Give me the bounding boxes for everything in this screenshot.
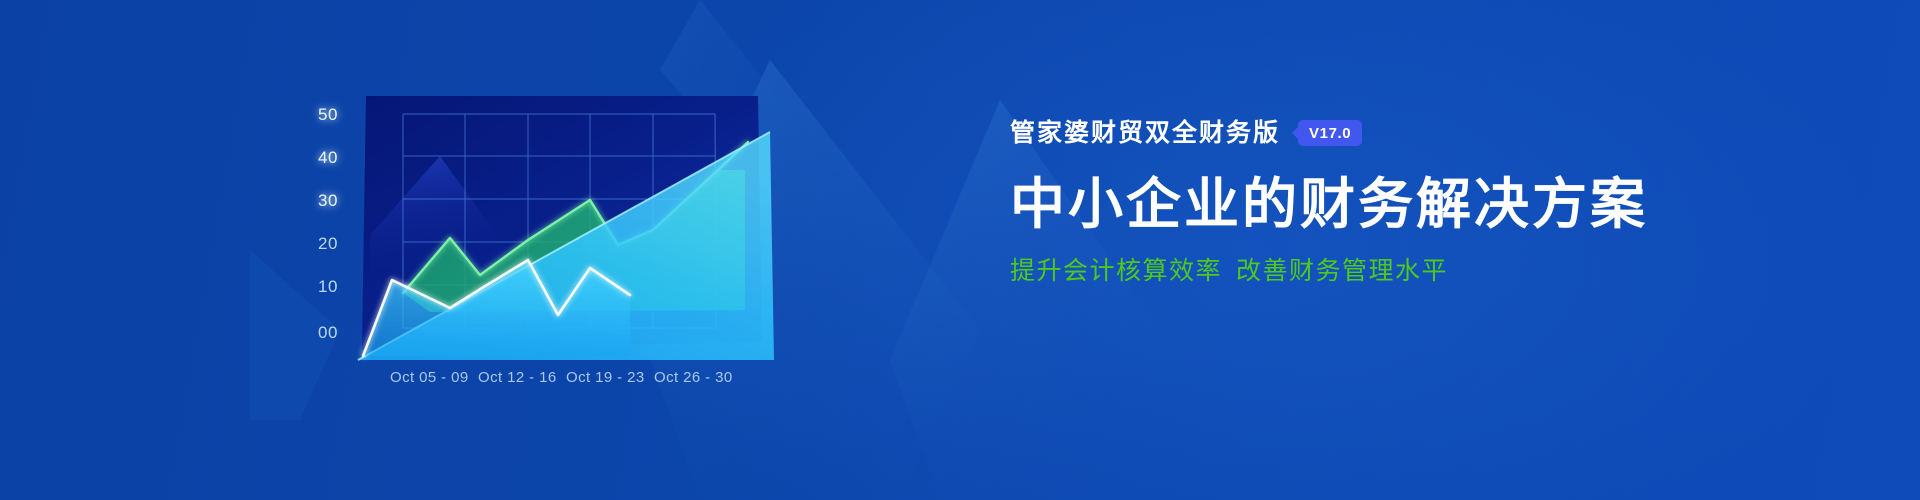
subheadline-part-2: 改善财务管理水平 bbox=[1236, 257, 1448, 285]
y-tick-label: 00 bbox=[318, 323, 338, 342]
x-tick-label: Oct 05 - 09 bbox=[390, 369, 469, 386]
growth-chart: 50 40 30 20 10 00 Oct 05 - 09 Oct 12 - 1… bbox=[300, 60, 940, 420]
growth-chart-svg: 50 40 30 20 10 00 Oct 05 - 09 Oct 12 - 1… bbox=[300, 60, 940, 420]
x-tick-label: Oct 19 - 23 bbox=[566, 369, 645, 386]
y-tick-label: 30 bbox=[318, 191, 338, 210]
promo-copy: 管家婆财贸双全财务版 V17.0 中小企业的财务解决方案 提升会计核算效率改善财… bbox=[1010, 120, 1770, 286]
y-tick-label: 10 bbox=[318, 277, 338, 296]
y-tick-label: 20 bbox=[318, 234, 338, 253]
subheadline: 提升会计核算效率改善财务管理水平 bbox=[1010, 256, 1770, 286]
headline: 中小企业的财务解决方案 bbox=[1010, 176, 1770, 234]
product-name-row: 管家婆财贸双全财务版 V17.0 bbox=[1010, 120, 1770, 146]
version-badge: V17.0 bbox=[1298, 120, 1362, 146]
subheadline-part-1: 提升会计核算效率 bbox=[1010, 257, 1222, 285]
y-tick-label: 50 bbox=[318, 105, 338, 124]
chart-y-axis: 50 40 30 20 10 00 bbox=[318, 105, 338, 342]
chart-x-axis: Oct 05 - 09 Oct 12 - 16 Oct 19 - 23 Oct … bbox=[390, 369, 733, 386]
promo-banner: 50 40 30 20 10 00 Oct 05 - 09 Oct 12 - 1… bbox=[0, 0, 1920, 500]
x-tick-label: Oct 12 - 16 bbox=[478, 369, 557, 386]
y-tick-label: 40 bbox=[318, 148, 338, 167]
x-tick-label: Oct 26 - 30 bbox=[654, 369, 733, 386]
product-name: 管家婆财贸双全财务版 bbox=[1010, 121, 1280, 146]
